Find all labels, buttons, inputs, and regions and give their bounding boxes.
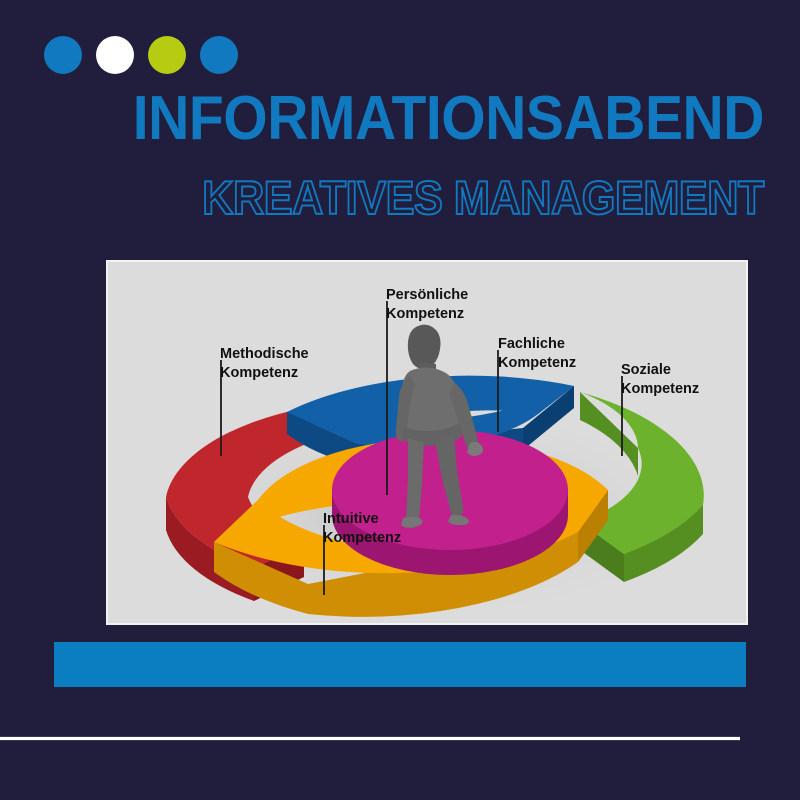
label-fachliche-line1: Fachliche <box>498 336 565 352</box>
label-soziale-line1: Soziale <box>621 362 671 378</box>
label-persoenliche-line2: Kompetenz <box>386 306 464 322</box>
headline-block: INFORMATIONSABEND KREATIVES MANAGEMENT <box>0 88 764 221</box>
label-persoenliche-kompetenz: Persönliche Kompetenz <box>386 286 468 324</box>
dot-blue-1-icon <box>44 36 82 74</box>
dot-white-icon <box>96 36 134 74</box>
footer-blue-bar <box>54 642 746 687</box>
dot-blue-2-icon <box>200 36 238 74</box>
competence-diagram: Persönliche Kompetenz Fachliche Kompeten… <box>108 262 746 623</box>
dot-lime-icon <box>148 36 186 74</box>
label-methodische-line2: Kompetenz <box>220 365 298 381</box>
decorative-dot-row <box>44 36 238 74</box>
label-methodische-line1: Methodische <box>220 346 309 362</box>
label-fachliche-kompetenz: Fachliche Kompetenz <box>498 335 576 373</box>
footer-hairline-divider <box>0 736 740 741</box>
label-intuitive-kompetenz: Intuitive Kompetenz <box>323 510 401 548</box>
label-soziale-line2: Kompetenz <box>621 381 699 397</box>
label-soziale-kompetenz: Soziale Kompetenz <box>621 361 699 399</box>
label-persoenliche-line1: Persönliche <box>386 287 468 303</box>
page-title: INFORMATIONSABEND <box>61 88 764 150</box>
label-methodische-kompetenz: Methodische Kompetenz <box>220 345 309 383</box>
page-subtitle: KREATIVES MANAGEMENT <box>61 174 764 221</box>
label-intuitive-line2: Kompetenz <box>323 530 401 546</box>
label-fachliche-line2: Kompetenz <box>498 355 576 371</box>
poster-canvas: INFORMATIONSABEND KREATIVES MANAGEMENT <box>0 0 800 800</box>
label-intuitive-line1: Intuitive <box>323 511 379 527</box>
